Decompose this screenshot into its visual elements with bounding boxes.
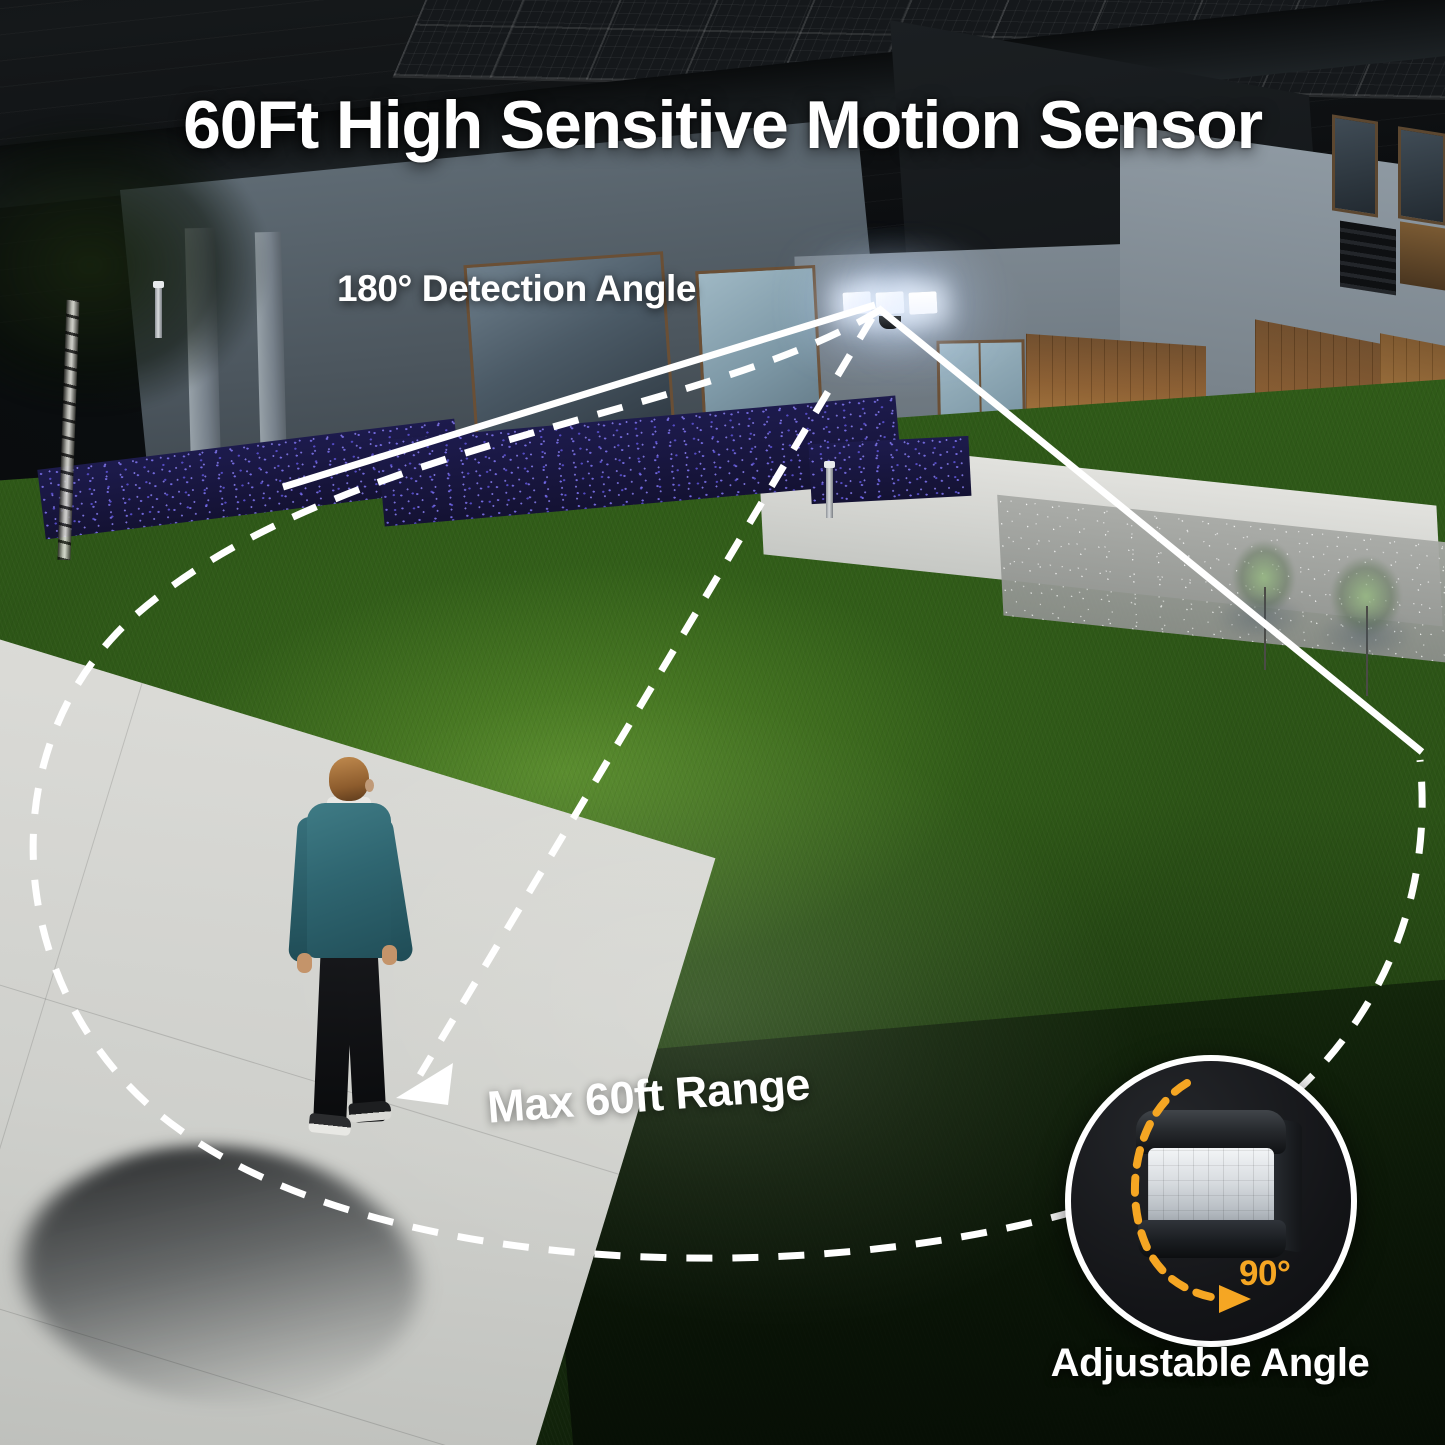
rotation-arc-dashed	[1135, 1083, 1223, 1299]
range-beam-dashed-line	[420, 318, 872, 1075]
product-infographic: 60Ft High Sensitive Motion Sensor 180° D…	[0, 0, 1445, 1445]
inset-caption: Adjustable Angle	[960, 1341, 1445, 1386]
adjustable-angle-inset: 90°	[1065, 1055, 1357, 1347]
detection-angle-line-left	[283, 305, 875, 487]
angle-value-label: 90°	[1239, 1254, 1290, 1294]
page-title: 60Ft High Sensitive Motion Sensor	[0, 86, 1445, 164]
callout-detection-angle: 180° Detection Angle	[337, 268, 696, 310]
detection-angle-line-right	[878, 308, 1422, 752]
rotation-arc-overlay	[1071, 1061, 1351, 1341]
